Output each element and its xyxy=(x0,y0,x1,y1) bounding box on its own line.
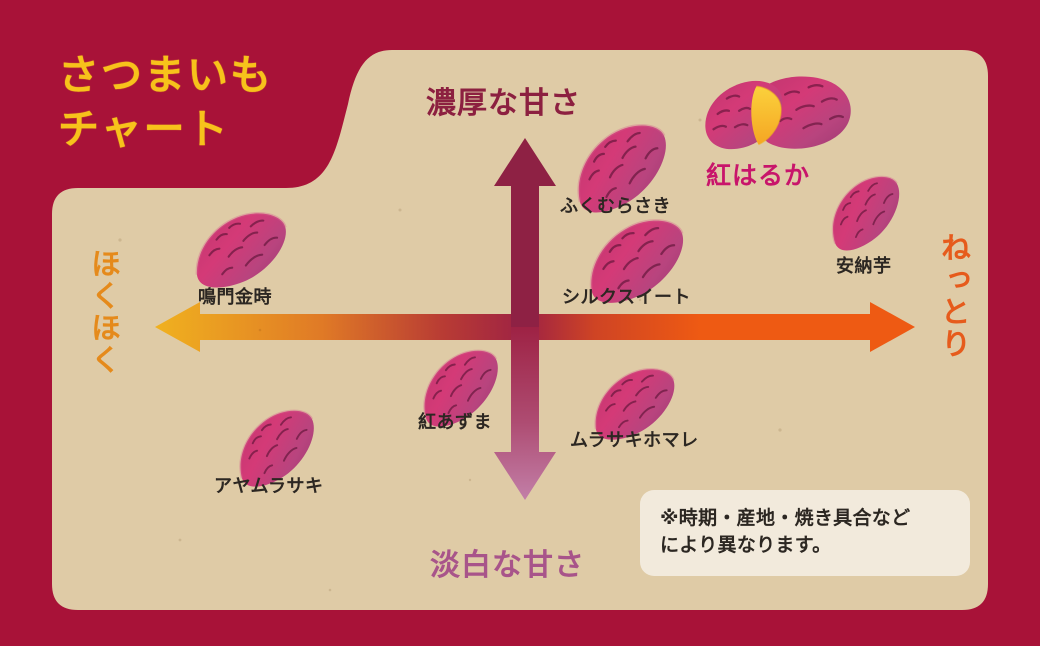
disclaimer-note: ※時期・産地・焼き具合など により異なります。 xyxy=(640,490,970,576)
axis-label-top: 濃厚な甘さ xyxy=(426,78,581,122)
infographic-root: さつまいも チャート 濃厚な甘さ 淡白な甘さ ほくほく ねっとり 鳴門金時ふくむ… xyxy=(0,0,1040,646)
data-point-label: アヤムラサキ xyxy=(214,472,324,498)
note-line-2: により異なります。 xyxy=(660,535,831,556)
axis-label-right: ねっとり xyxy=(930,232,974,360)
page-title: さつまいも チャート xyxy=(58,48,273,156)
axis-label-left: ほくほく xyxy=(80,248,124,376)
title-line-1: さつまいも xyxy=(58,48,273,102)
title-line-2: チャート xyxy=(58,102,273,156)
axis-label-bottom: 淡白な甘さ xyxy=(430,540,585,584)
note-line-1: ※時期・産地・焼き具合など xyxy=(660,508,910,529)
